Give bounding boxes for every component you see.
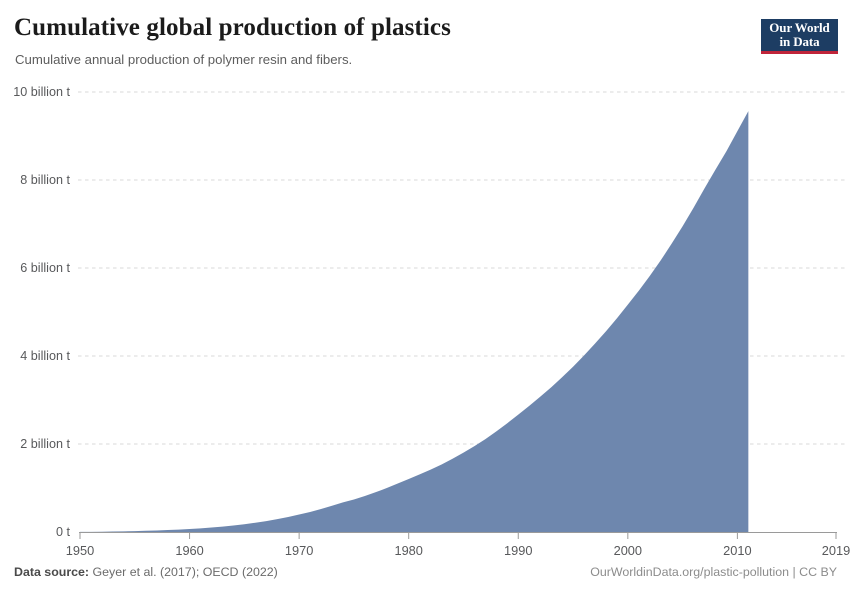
page-title: Cumulative global production of plastics	[14, 14, 451, 42]
chart-footer: Data source: Geyer et al. (2017); OECD (…	[0, 558, 850, 600]
y-axis-tick-label: 2 billion t	[0, 437, 70, 451]
data-source: Data source: Geyer et al. (2017); OECD (…	[14, 565, 278, 579]
our-world-in-data-logo[interactable]: Our World in Data	[761, 19, 838, 54]
x-axis-tick-label: 1980	[394, 543, 422, 558]
x-axis-tick-label: 1970	[285, 543, 313, 558]
x-axis-tick-label: 1990	[504, 543, 532, 558]
x-axis-tick-label: 2010	[723, 543, 751, 558]
y-axis-tick-label: 4 billion t	[0, 349, 70, 363]
y-axis-tick-label: 6 billion t	[0, 261, 70, 275]
chart-header: Cumulative global production of plastics…	[0, 0, 850, 80]
attribution-link[interactable]: OurWorldinData.org/plastic-pollution | C…	[590, 565, 837, 579]
x-axis-tick-label: 1950	[66, 543, 94, 558]
y-axis-tick-label: 8 billion t	[0, 173, 70, 187]
logo-line-1: Our World	[761, 21, 838, 35]
logo-text: Our World in Data	[761, 21, 838, 49]
logo-line-2: in Data	[761, 35, 838, 49]
x-axis-tick-marks	[80, 533, 836, 539]
x-axis-tick-label: 1960	[175, 543, 203, 558]
x-axis-tick-label: 2019	[822, 543, 850, 558]
data-source-label: Data source:	[14, 565, 89, 579]
chart-subtitle: Cumulative annual production of polymer …	[15, 52, 352, 67]
data-source-value: Geyer et al. (2017); OECD (2022)	[93, 565, 278, 579]
y-axis-tick-label: 0 t	[0, 525, 70, 539]
logo-red-rule	[761, 51, 838, 54]
x-axis-tick-label: 2000	[614, 543, 642, 558]
y-axis-tick-label: 10 billion t	[0, 85, 70, 99]
area-series-cumulative-plastic-production[interactable]	[80, 111, 748, 532]
area-chart-svg	[0, 80, 850, 550]
chart-plot-area[interactable]: 0 t2 billion t4 billion t6 billion t8 bi…	[0, 80, 850, 550]
